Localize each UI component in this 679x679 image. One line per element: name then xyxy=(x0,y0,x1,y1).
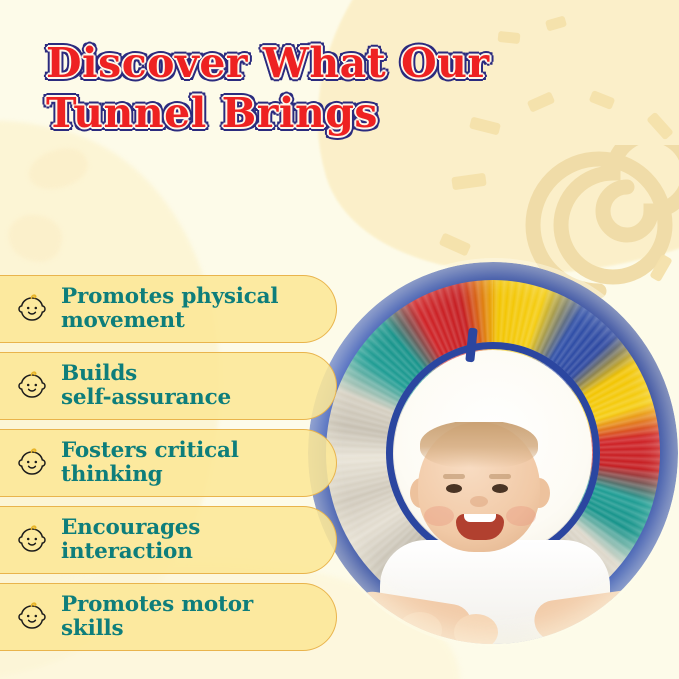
benefit-line-2: interaction xyxy=(61,540,200,564)
baby-eyebrow xyxy=(489,474,511,479)
sun-ray xyxy=(646,112,674,141)
benefit-item-promotes-physical-movement: Promotes physical movement xyxy=(0,275,337,343)
baby-face-icon xyxy=(14,445,50,481)
baby-nose xyxy=(470,496,488,507)
benefit-item-builds-self-assurance: Builds self-assurance xyxy=(0,352,337,420)
benefit-item-encourages-interaction: Encourages interaction xyxy=(0,506,337,574)
baby-cheek xyxy=(506,506,536,526)
baby-eyebrow xyxy=(443,474,465,479)
baby-hair xyxy=(420,422,538,468)
benefit-line-1: Encourages xyxy=(61,516,200,540)
benefit-line-2: movement xyxy=(61,309,278,333)
baby-eye xyxy=(446,484,462,493)
benefit-item-fosters-critical-thinking: Fosters critical thinking xyxy=(0,429,337,497)
benefit-line-1: Fosters critical xyxy=(61,439,239,463)
baby-cheek xyxy=(424,506,454,526)
baby-photo-subject xyxy=(358,422,658,644)
benefit-line-2: self-assurance xyxy=(61,386,231,410)
benefit-text: Fosters critical thinking xyxy=(61,439,239,488)
benefit-text: Encourages interaction xyxy=(61,516,200,565)
benefit-line-1: Promotes motor xyxy=(61,593,253,617)
baby-face-icon xyxy=(14,522,50,558)
baby-hand xyxy=(398,612,442,644)
title-line-2: Tunnel Brings xyxy=(46,88,606,138)
benefit-line-1: Promotes physical xyxy=(61,285,278,309)
benefit-text: Promotes physical movement xyxy=(61,285,278,334)
sun-ray xyxy=(451,173,486,191)
benefits-list: Promotes physical movement Builds self-a… xyxy=(0,275,400,660)
baby-face-icon xyxy=(14,368,50,404)
baby-face-icon xyxy=(14,291,50,327)
benefit-item-promotes-motor-skills: Promotes motor skills xyxy=(0,583,337,651)
background-blob xyxy=(23,141,92,197)
benefit-text: Promotes motor skills xyxy=(61,593,253,642)
promo-graphic: Discover What Our Tunnel Brings Promotes… xyxy=(0,0,679,679)
background-blob xyxy=(3,209,67,267)
benefit-line-2: skills xyxy=(61,617,253,641)
baby-face-icon xyxy=(14,599,50,635)
sun-ray xyxy=(439,232,472,256)
baby-hand xyxy=(454,614,498,644)
baby-mouth xyxy=(456,514,504,540)
title-line-1: Discover What Our xyxy=(46,38,606,88)
page-title: Discover What Our Tunnel Brings xyxy=(46,38,606,138)
sun-ray xyxy=(545,15,567,31)
benefit-line-2: thinking xyxy=(61,463,239,487)
benefit-line-1: Builds xyxy=(61,362,231,386)
baby-eye xyxy=(492,484,508,493)
benefit-text: Builds self-assurance xyxy=(61,362,231,411)
